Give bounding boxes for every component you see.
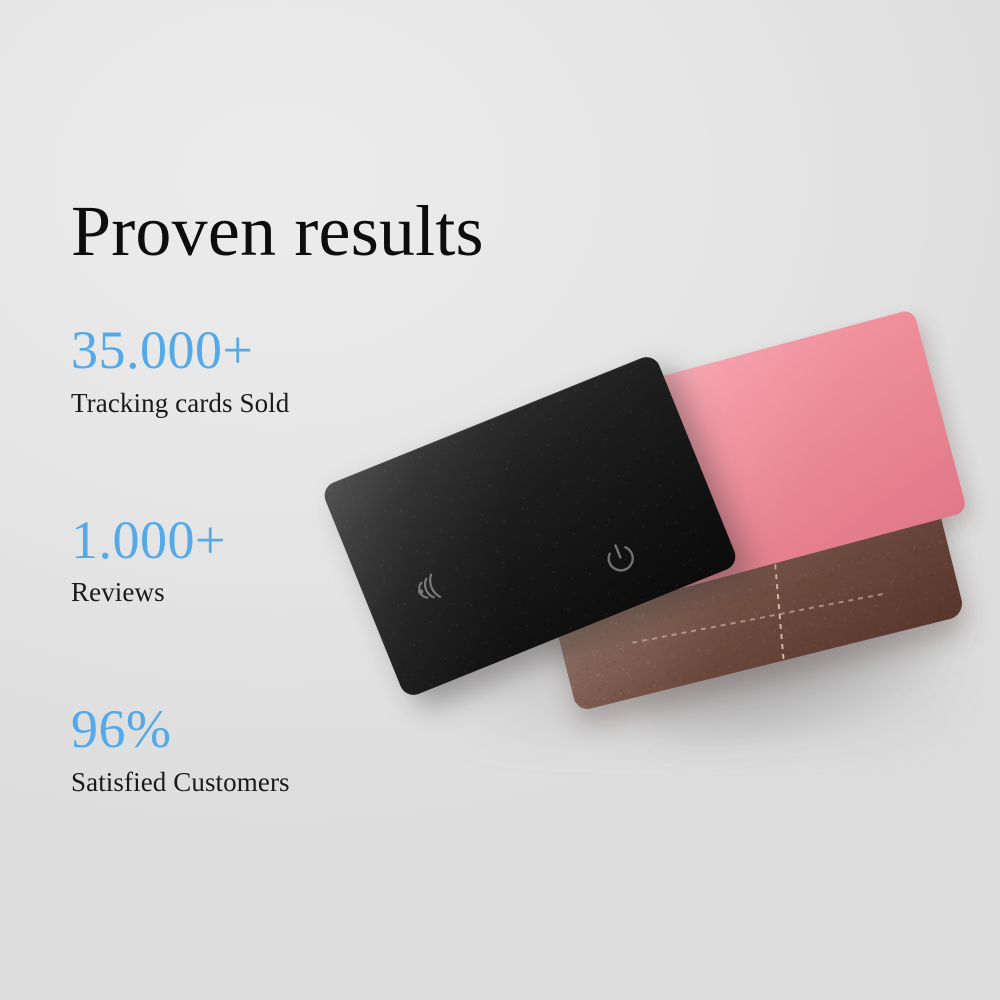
product-photo (330, 320, 990, 790)
page-title: Proven results (71, 195, 484, 267)
promo-canvas: Proven results 35.000+ Tracking cards So… (0, 0, 1000, 1000)
